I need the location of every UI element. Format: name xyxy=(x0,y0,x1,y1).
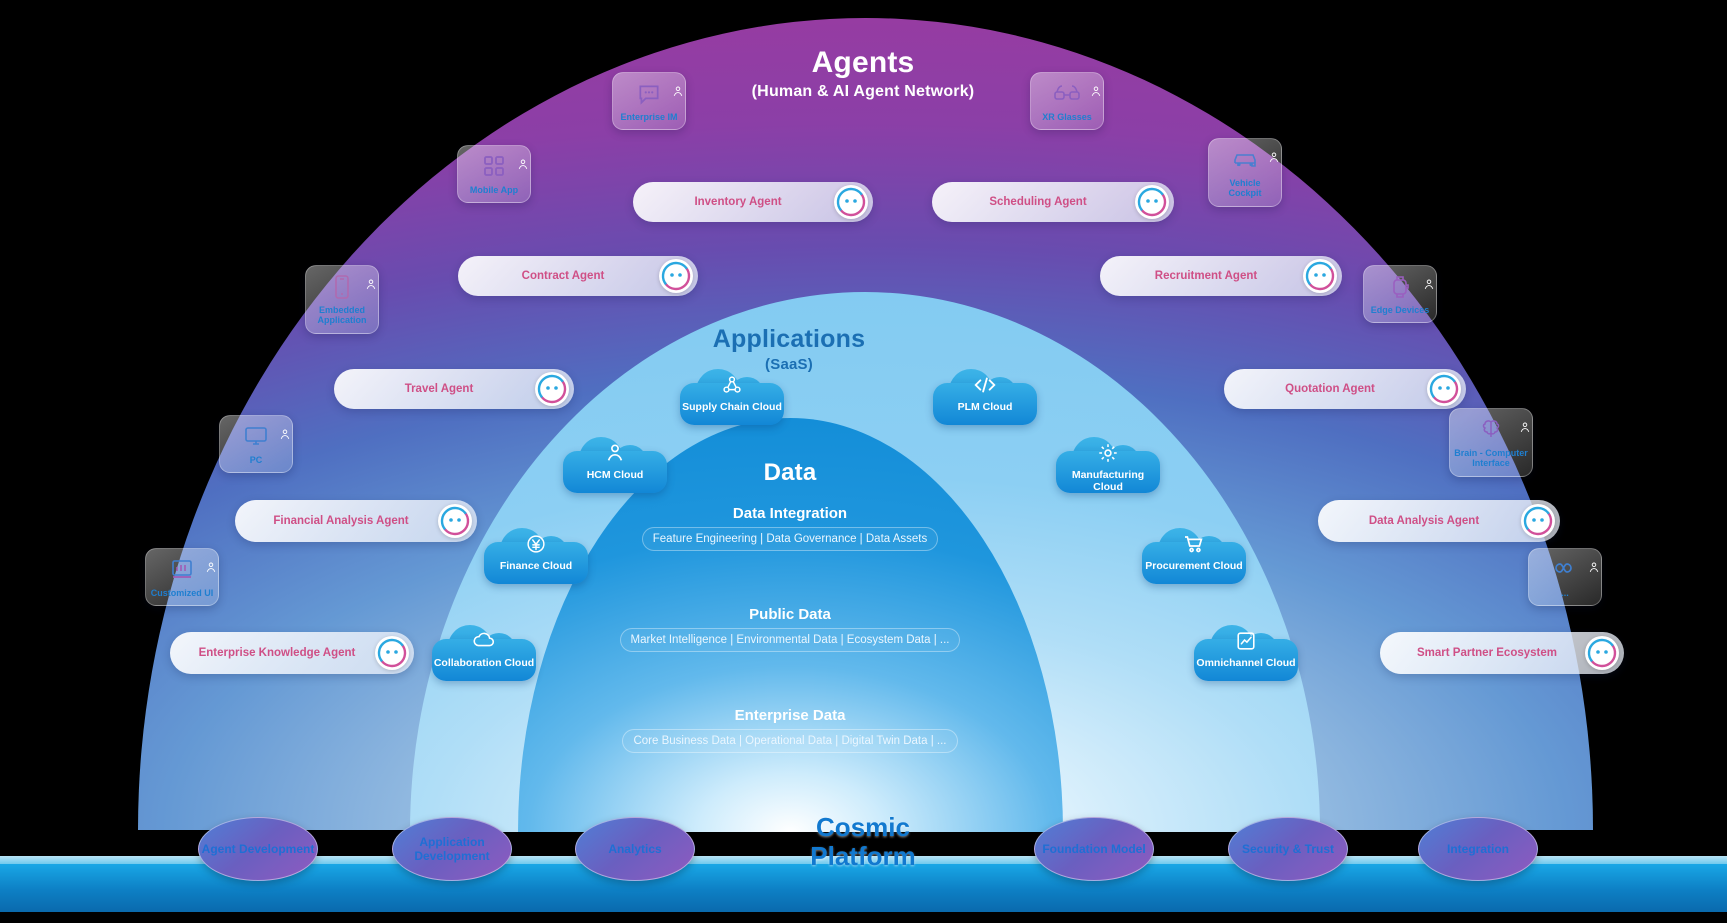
agent-pill-smart-partner-ecosystem[interactable]: Smart Partner Ecosystem xyxy=(1380,632,1624,674)
line-chart-icon xyxy=(1194,630,1298,657)
platform-capability-integration[interactable]: Integration xyxy=(1418,817,1538,881)
platform-capability-security-trust[interactable]: Security & Trust xyxy=(1228,817,1348,881)
device-tile-pc[interactable]: PC xyxy=(219,415,293,473)
device-tile-customized-ui[interactable]: Customized UI xyxy=(145,548,219,606)
data-section-heading: Enterprise Data xyxy=(580,707,1000,724)
cloud-badge-label: Omnichannel Cloud xyxy=(1194,657,1298,669)
cloud-badge-label: Manufacturing Cloud xyxy=(1056,469,1160,493)
bar-chart-icon xyxy=(150,557,214,585)
agent-face-icon xyxy=(1427,372,1461,406)
platform-capability-label: Analytics xyxy=(608,842,661,856)
shopping-cart-icon xyxy=(1142,533,1246,560)
car-icon xyxy=(1213,147,1277,175)
platform-name-line2: Platform xyxy=(763,842,963,871)
device-tile-label: Embedded Application xyxy=(310,305,374,326)
device-tile-vehicle-cockpit[interactable]: Vehicle Cockpit xyxy=(1208,138,1282,207)
agent-pill-label: Contract Agent xyxy=(522,269,605,283)
yen-icon xyxy=(484,533,588,560)
agent-pill-label: Inventory Agent xyxy=(694,195,781,209)
device-tile-label: Customized UI xyxy=(150,588,214,598)
cloud-badge-supply-chain[interactable]: Supply Chain Cloud xyxy=(680,369,784,433)
platform-capability-agent-development[interactable]: Agent Development xyxy=(198,817,318,881)
agent-face-icon xyxy=(1303,259,1337,293)
platform-capability-analytics[interactable]: Analytics xyxy=(575,817,695,881)
infinity-icon xyxy=(1533,557,1597,585)
agent-pill-label: Quotation Agent xyxy=(1285,382,1375,396)
device-tile-xr-glasses[interactable]: XR Glasses xyxy=(1030,72,1104,130)
brain-icon xyxy=(1454,417,1528,445)
agent-face-icon xyxy=(1521,504,1555,538)
platform-capability-label: Integration xyxy=(1447,842,1509,856)
cloud-badge-hcm[interactable]: HCM Cloud xyxy=(563,437,667,501)
person-icon xyxy=(563,442,667,469)
glasses-icon xyxy=(1035,81,1099,109)
cloud-badge-manufacturing[interactable]: Manufacturing Cloud xyxy=(1056,437,1160,501)
agent-pill-contract[interactable]: Contract Agent xyxy=(458,256,698,296)
agent-face-icon xyxy=(375,636,409,670)
agent-face-icon xyxy=(1135,185,1169,219)
device-tile-embedded-application[interactable]: Embedded Application xyxy=(305,265,379,334)
data-layer-title: Data xyxy=(690,459,890,487)
device-tile-label: Brain - Computer Interface xyxy=(1454,448,1528,469)
agent-pill-label: Travel Agent xyxy=(405,382,474,396)
platform-capability-application-development[interactable]: Application Development xyxy=(392,817,512,881)
device-tile-label: XR Glasses xyxy=(1035,112,1099,122)
device-tile-label: ... xyxy=(1533,588,1597,598)
device-tile-label: Edge Devices xyxy=(1368,305,1432,315)
agent-pill-data-analysis[interactable]: Data Analysis Agent xyxy=(1318,500,1560,542)
agent-pill-label: Enterprise Knowledge Agent xyxy=(199,646,356,660)
device-tile-brain-computer-interface[interactable]: Brain - Computer Interface xyxy=(1449,408,1533,477)
smartwatch-icon xyxy=(1368,274,1432,302)
agent-pill-label: Recruitment Agent xyxy=(1155,269,1257,283)
device-tile-mobile-app[interactable]: Mobile App xyxy=(457,145,531,203)
agent-face-icon xyxy=(438,504,472,538)
cloud-badge-label: Collaboration Cloud xyxy=(432,657,536,669)
agent-pill-label: Smart Partner Ecosystem xyxy=(1417,646,1557,660)
phone-icon xyxy=(310,274,374,302)
cloud-badge-omnichannel[interactable]: Omnichannel Cloud xyxy=(1194,625,1298,689)
device-tile-label: Mobile App xyxy=(462,185,526,195)
platform-capability-label: Agent Development xyxy=(202,842,315,856)
agent-face-icon xyxy=(834,185,868,219)
platform-capability-foundation-model[interactable]: Foundation Model xyxy=(1034,817,1154,881)
data-section-items: Core Business Data | Operational Data | … xyxy=(622,729,957,753)
agent-pill-label: Data Analysis Agent xyxy=(1369,514,1479,528)
agent-face-icon xyxy=(1585,636,1619,670)
cloud-badge-plm[interactable]: PLM Cloud xyxy=(933,369,1037,433)
cloud-icon xyxy=(432,630,536,655)
data-section: Data Integration Feature Engineering | D… xyxy=(580,505,1000,551)
data-section-heading: Data Integration xyxy=(580,505,1000,522)
architecture-diagram: Agents (Human & AI Agent Network) Applic… xyxy=(0,0,1727,923)
platform-name-line1: Cosmic xyxy=(763,813,963,842)
cloud-badge-label: PLM Cloud xyxy=(933,401,1037,413)
platform-name: Cosmic Platform xyxy=(763,813,963,870)
device-tile-label: Enterprise IM xyxy=(617,112,681,122)
device-tile-edge-devices[interactable]: Edge Devices xyxy=(1363,265,1437,323)
agent-pill-quotation[interactable]: Quotation Agent xyxy=(1224,369,1466,409)
agent-pill-label: Financial Analysis Agent xyxy=(273,514,408,528)
agent-pill-recruitment[interactable]: Recruitment Agent xyxy=(1100,256,1342,296)
agent-face-icon xyxy=(659,259,693,293)
cloud-badge-collaboration[interactable]: Collaboration Cloud xyxy=(432,625,536,689)
agent-pill-enterprise-knowledge[interactable]: Enterprise Knowledge Agent xyxy=(170,632,414,674)
platform-capability-label: Security & Trust xyxy=(1242,842,1334,856)
chat-bubble-icon xyxy=(617,81,681,109)
network-nodes-icon xyxy=(680,374,784,401)
applications-layer-title: Applications xyxy=(644,325,934,354)
agent-pill-scheduling[interactable]: Scheduling Agent xyxy=(932,182,1174,222)
apps-grid-icon xyxy=(462,154,526,182)
data-section: Enterprise Data Core Business Data | Ope… xyxy=(580,707,1000,753)
device-tile-label: PC xyxy=(224,455,288,465)
cloud-badge-label: Procurement Cloud xyxy=(1142,560,1246,572)
code-brackets-icon xyxy=(933,374,1037,401)
platform-capability-label: Application Development xyxy=(393,835,511,864)
cloud-badge-procurement[interactable]: Procurement Cloud xyxy=(1142,528,1246,592)
device-tile-more[interactable]: ... xyxy=(1528,548,1602,606)
cloud-badge-finance[interactable]: Finance Cloud xyxy=(484,528,588,592)
agent-pill-financial-analysis[interactable]: Financial Analysis Agent xyxy=(235,500,477,542)
data-section-items: Market Intelligence | Environmental Data… xyxy=(620,628,961,652)
agent-pill-inventory[interactable]: Inventory Agent xyxy=(633,182,873,222)
cloud-badge-label: Supply Chain Cloud xyxy=(680,401,784,413)
platform-capability-label: Foundation Model xyxy=(1042,842,1145,856)
gear-icon xyxy=(1056,442,1160,469)
device-tile-label: Vehicle Cockpit xyxy=(1213,178,1277,199)
data-section-heading: Public Data xyxy=(580,606,1000,623)
agent-face-icon xyxy=(535,372,569,406)
agent-pill-label: Scheduling Agent xyxy=(989,195,1086,209)
data-section-items: Feature Engineering | Data Governance | … xyxy=(642,527,938,551)
monitor-icon xyxy=(224,424,288,452)
data-section: Public Data Market Intelligence | Enviro… xyxy=(580,606,1000,652)
agent-pill-travel[interactable]: Travel Agent xyxy=(334,369,574,409)
cloud-badge-label: Finance Cloud xyxy=(484,560,588,572)
device-tile-enterprise-im[interactable]: Enterprise IM xyxy=(612,72,686,130)
cloud-badge-label: HCM Cloud xyxy=(563,469,667,481)
